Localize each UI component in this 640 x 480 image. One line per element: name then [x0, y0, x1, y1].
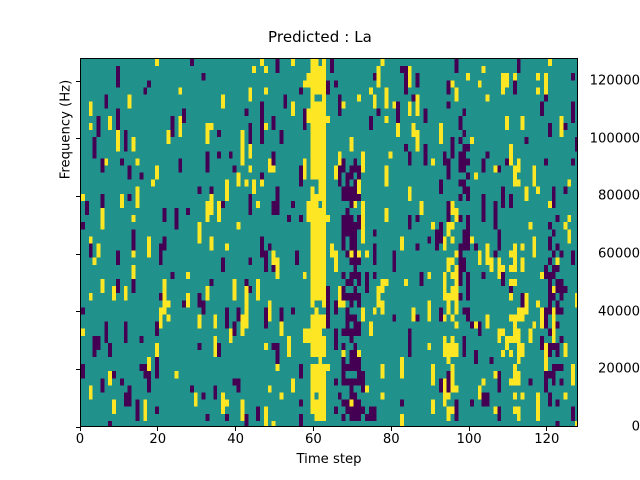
x-tick-mark: [469, 427, 470, 431]
y-tick-mark: [76, 254, 80, 255]
y-tick-label: 100000: [572, 131, 640, 146]
x-tick-label: 80: [361, 432, 421, 447]
x-axis-label: Time step: [80, 452, 578, 467]
x-tick-mark: [157, 427, 158, 431]
y-tick-label: 80000: [572, 189, 640, 204]
x-tick-label: 20: [128, 432, 188, 447]
heatmap-plot-area: [80, 58, 578, 427]
x-tick-mark: [391, 427, 392, 431]
x-tick-label: 60: [283, 432, 343, 447]
x-tick-label: 40: [206, 432, 266, 447]
y-tick-label: 120000: [572, 74, 640, 89]
y-tick-label: 60000: [572, 247, 640, 262]
heatmap-image: [81, 59, 578, 427]
y-tick-label: 0: [572, 420, 640, 435]
y-tick-mark: [76, 196, 80, 197]
y-tick-label: 20000: [572, 362, 640, 377]
x-tick-label: 0: [50, 432, 110, 447]
y-tick-mark: [76, 311, 80, 312]
x-tick-mark: [546, 427, 547, 431]
x-tick-mark: [80, 427, 81, 431]
y-tick-mark: [76, 81, 80, 82]
x-tick-mark: [313, 427, 314, 431]
y-tick-mark: [76, 138, 80, 139]
matplotlib-figure: Predicted : La Frequency (Hz) Time step …: [0, 0, 640, 480]
x-tick-label: 100: [439, 432, 499, 447]
x-tick-mark: [235, 427, 236, 431]
y-axis-label: Frequency (Hz): [59, 10, 74, 250]
y-tick-label: 40000: [572, 304, 640, 319]
y-tick-mark: [76, 369, 80, 370]
chart-title: Predicted : La: [0, 28, 640, 46]
x-tick-label: 120: [517, 432, 577, 447]
